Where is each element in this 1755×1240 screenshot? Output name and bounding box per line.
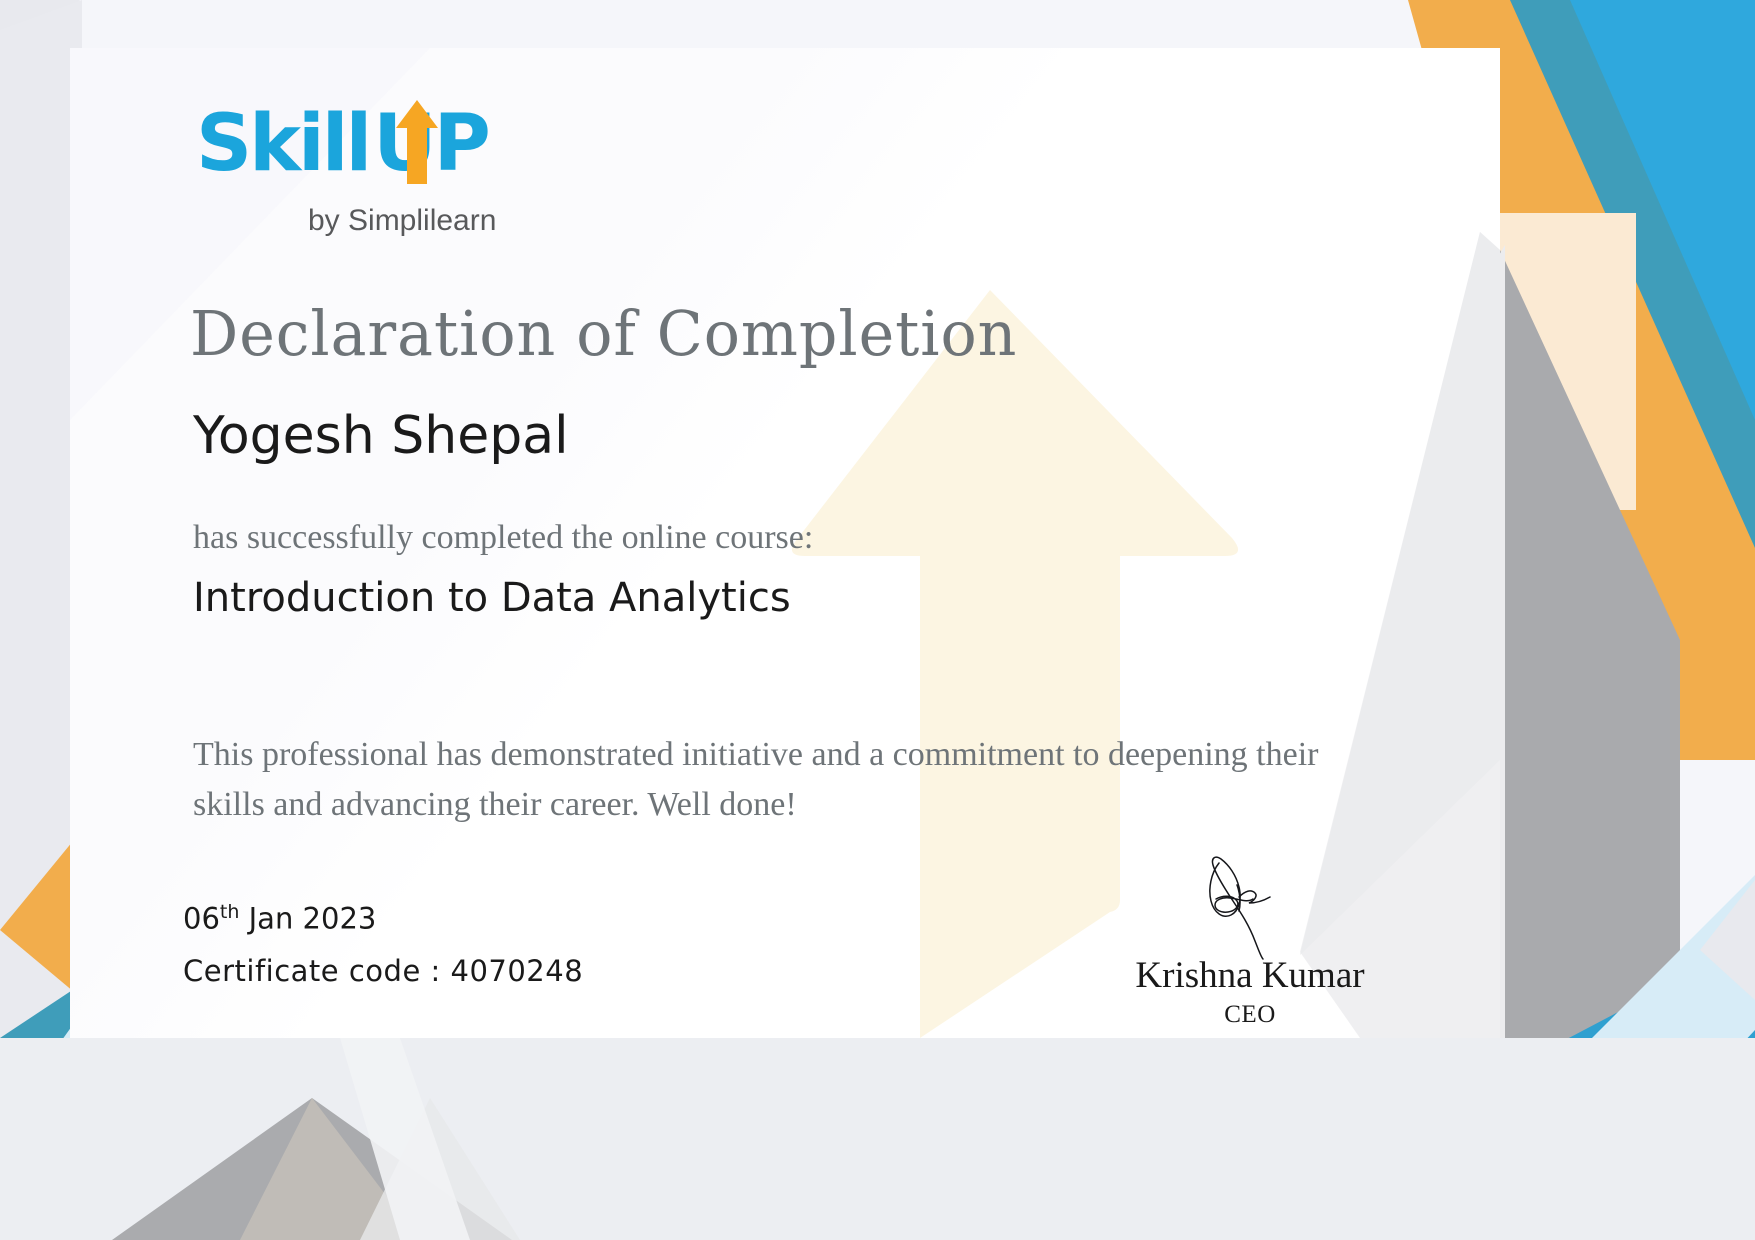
signer-role: CEO xyxy=(1050,1001,1450,1029)
issue-date: 06th Jan 2023 xyxy=(183,901,376,936)
logo-up-arrow-icon xyxy=(394,98,440,184)
body-paragraph: This professional has demonstrated initi… xyxy=(193,730,1373,831)
page-title: Declaration of Completion xyxy=(190,297,1017,370)
signer-name: Krishna Kumar xyxy=(1050,954,1450,997)
logo-tagline: by Simplilearn xyxy=(308,204,496,238)
course-name: Introduction to Data Analytics xyxy=(193,575,791,621)
logo-text: SkillUP xyxy=(196,96,488,192)
issue-date-day: 06 xyxy=(183,902,220,936)
certificate-page: SkillUP by Simplilearn Declaration of Co… xyxy=(0,0,1755,1240)
issue-date-ordinal: th xyxy=(220,901,240,923)
signature-block: Krishna Kumar CEO xyxy=(1050,845,1450,1029)
issue-date-month-year: Jan 2023 xyxy=(249,902,377,936)
signature-mark-icon xyxy=(1175,845,1325,960)
recipient-name: Yogesh Shepal xyxy=(193,406,569,466)
brand-logo: SkillUP by Simplilearn xyxy=(196,96,516,192)
logo-wordmark: SkillUP xyxy=(196,96,506,192)
certificate-code: Certificate code : 4070248 xyxy=(183,954,583,988)
completion-line: has successfully completed the online co… xyxy=(193,519,813,557)
